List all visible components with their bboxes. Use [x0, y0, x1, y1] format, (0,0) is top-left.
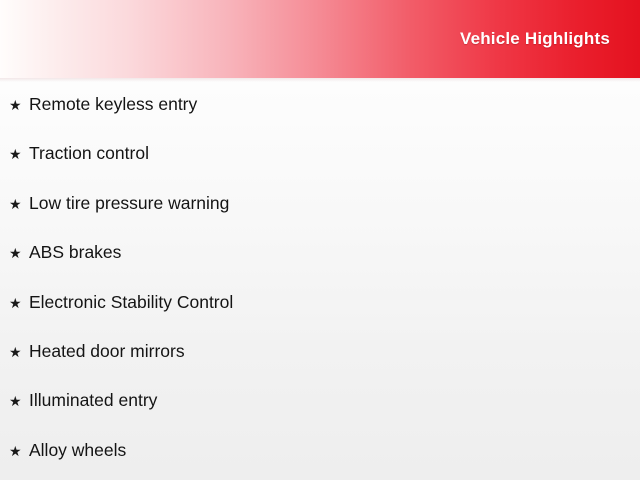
star-icon: ★: [9, 296, 29, 310]
list-item-label: Electronic Stability Control: [29, 294, 233, 312]
list-item-label: Illuminated entry: [29, 392, 157, 410]
star-icon: ★: [9, 345, 29, 359]
vehicle-highlights-page: Vehicle Highlights ★ Remote keyless entr…: [0, 0, 640, 480]
star-icon: ★: [9, 197, 29, 211]
vehicle-highlights-list: ★ Remote keyless entry ★ Traction contro…: [0, 78, 640, 480]
page-title: Vehicle Highlights: [460, 29, 610, 49]
star-icon: ★: [9, 98, 29, 112]
star-icon: ★: [9, 147, 29, 161]
list-item-label: Alloy wheels: [29, 442, 126, 460]
list-item-label: Traction control: [29, 145, 149, 163]
list-item-label: Low tire pressure warning: [29, 195, 229, 213]
list-item: ★ Illuminated entry: [0, 392, 640, 441]
list-item: ★ Low tire pressure warning: [0, 195, 640, 244]
list-item: ★ Heated door mirrors: [0, 343, 640, 392]
list-item: ★ Alloy wheels: [0, 442, 640, 480]
star-icon: ★: [9, 444, 29, 458]
star-icon: ★: [9, 394, 29, 408]
star-icon: ★: [9, 246, 29, 260]
list-item-label: ABS brakes: [29, 244, 121, 262]
list-item: ★ ABS brakes: [0, 244, 640, 293]
list-item-label: Remote keyless entry: [29, 96, 197, 114]
page-header-banner: Vehicle Highlights: [0, 0, 640, 78]
list-item: ★ Electronic Stability Control: [0, 294, 640, 343]
list-item: ★ Traction control: [0, 145, 640, 194]
list-item: ★ Remote keyless entry: [0, 78, 640, 145]
list-item-label: Heated door mirrors: [29, 343, 185, 361]
